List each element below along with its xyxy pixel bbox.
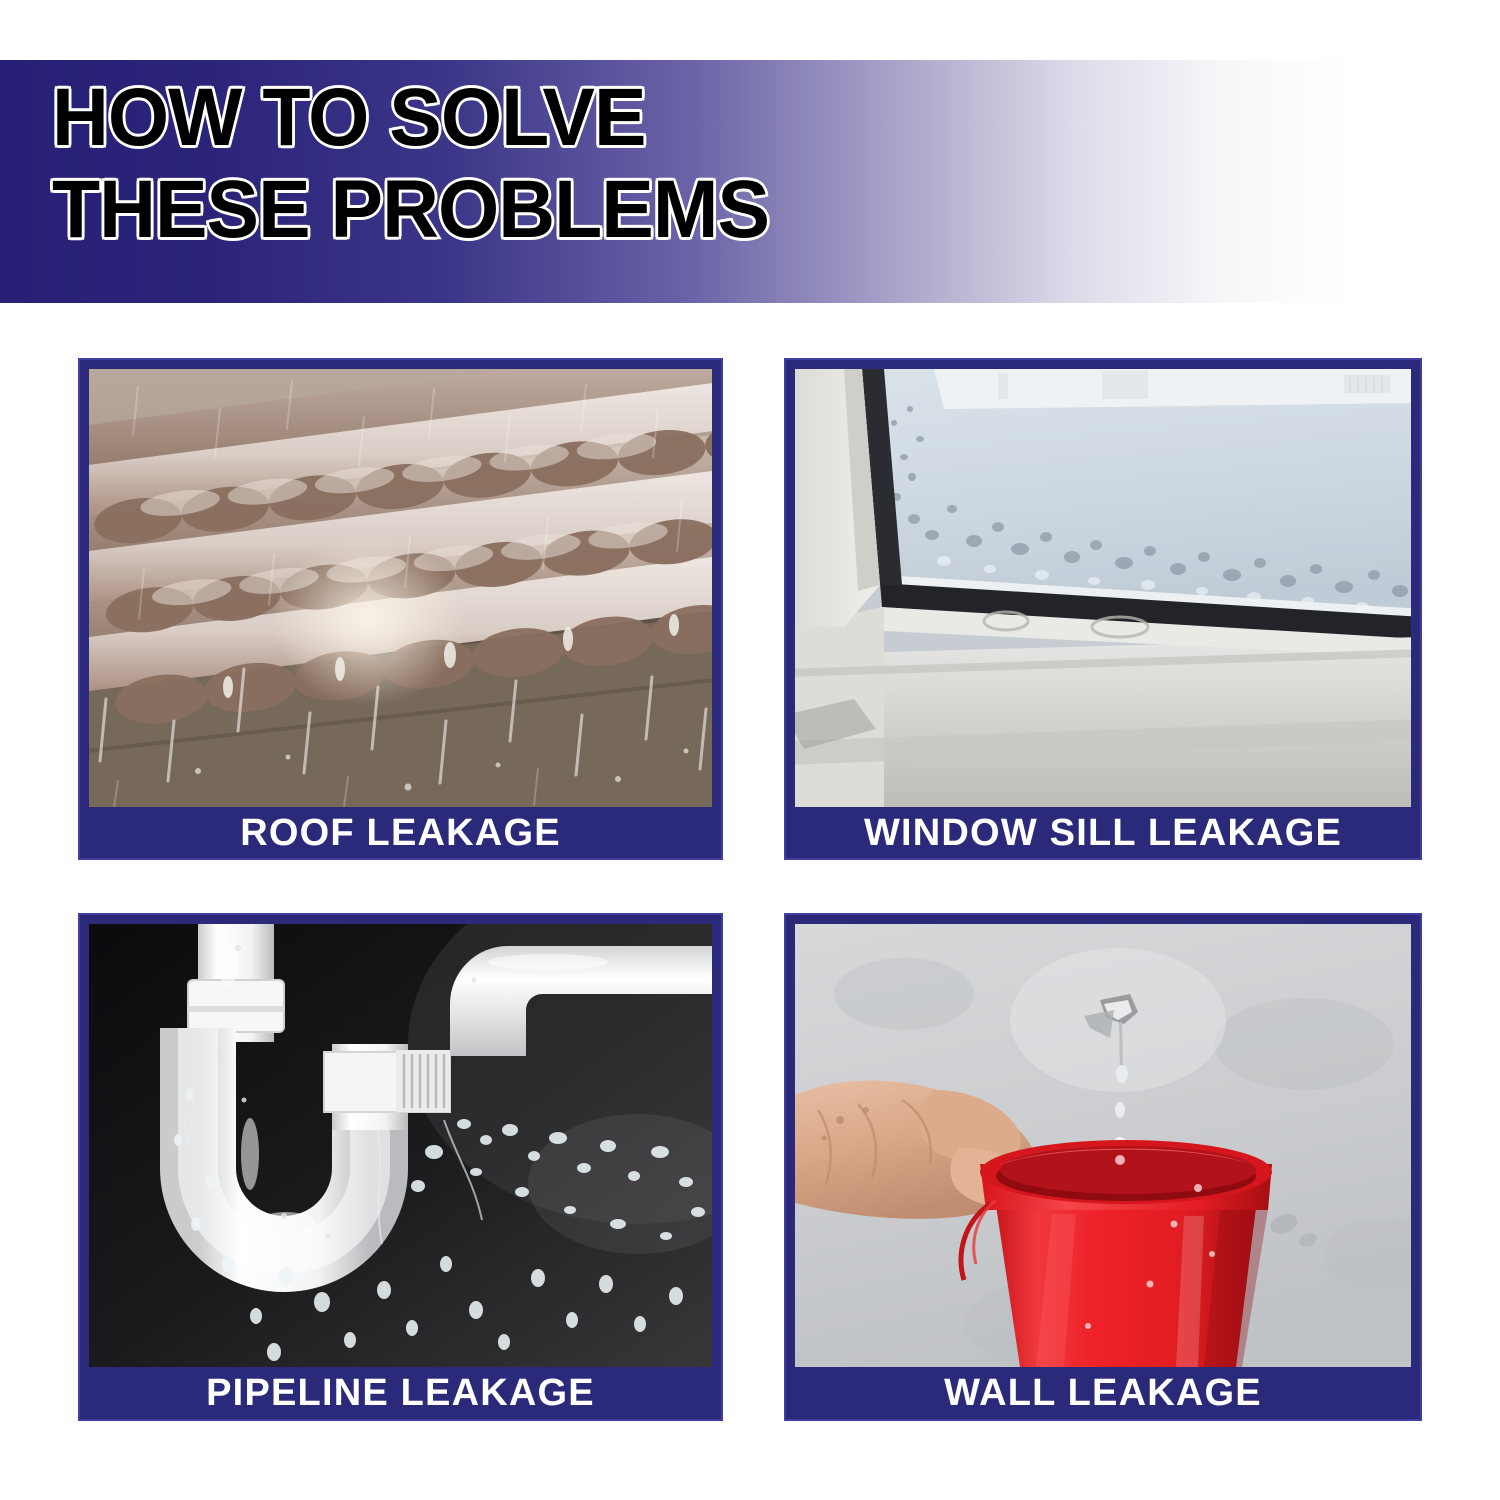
roof-leakage-photo	[89, 369, 712, 807]
caption-window-sill-leakage: WINDOW SILL LEAKAGE	[786, 807, 1420, 858]
caption-roof-leakage: ROOF LEAKAGE	[80, 807, 721, 858]
problem-panel-grid: ROOF LEAKAGE	[0, 0, 1500, 1500]
wall-leakage-photo	[795, 924, 1411, 1367]
panel-wall-leakage[interactable]: WALL LEAKAGE	[784, 913, 1422, 1421]
caption-pipeline-leakage: PIPELINE LEAKAGE	[80, 1367, 721, 1419]
panel-pipeline-leakage[interactable]: PIPELINE LEAKAGE	[78, 913, 723, 1421]
caption-wall-leakage: WALL LEAKAGE	[786, 1367, 1420, 1419]
panel-window-sill-leakage[interactable]: WINDOW SILL LEAKAGE	[784, 358, 1422, 860]
window-sill-leakage-photo	[795, 369, 1411, 807]
pipeline-leakage-photo	[89, 924, 712, 1367]
panel-roof-leakage[interactable]: ROOF LEAKAGE	[78, 358, 723, 860]
